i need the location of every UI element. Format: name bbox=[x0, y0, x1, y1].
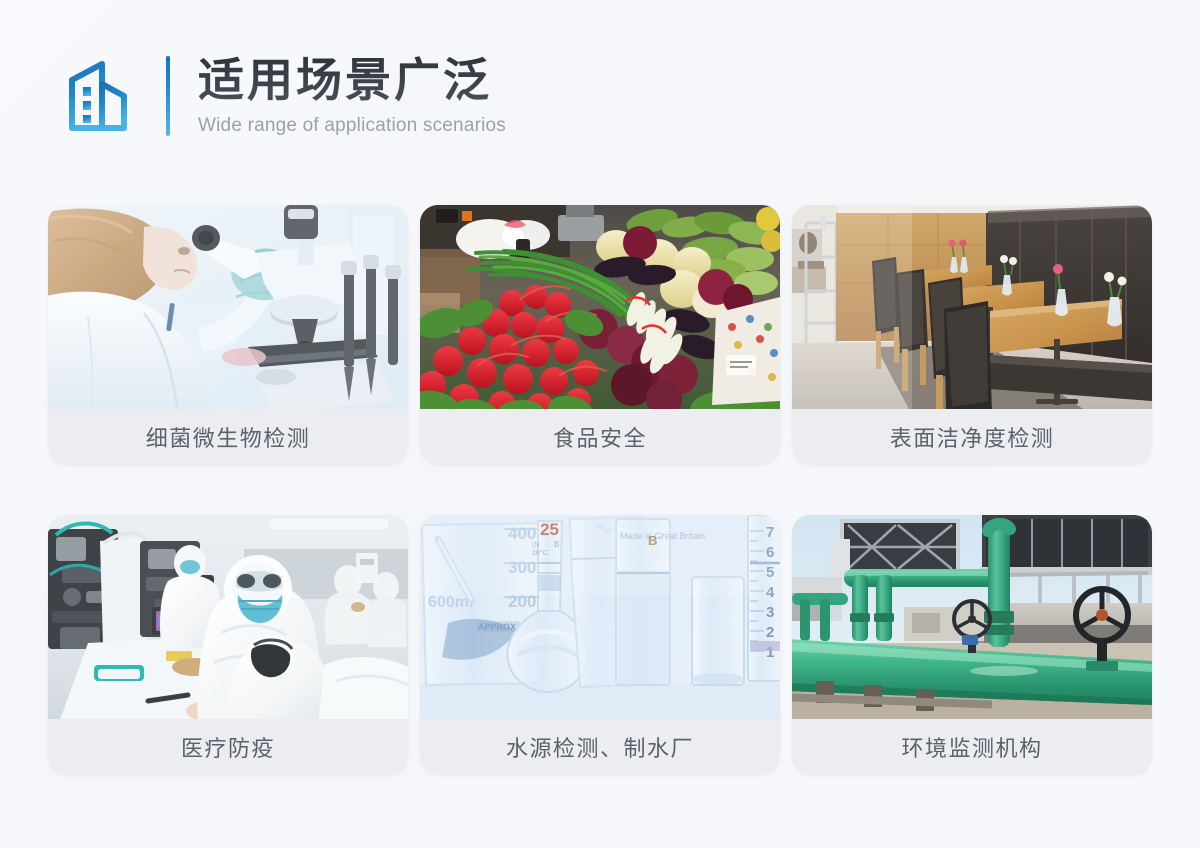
lab-glassware-photo: 400 300 200 600ml APPROX bbox=[420, 515, 780, 725]
restaurant-interior-photo bbox=[792, 205, 1152, 415]
scenario-card-grid: 细菌微生物检测 bbox=[48, 205, 1152, 775]
card-label: 环境监测机构 bbox=[792, 719, 1152, 775]
page-header: 适用场景广泛 Wide range of application scenari… bbox=[62, 48, 506, 144]
card-label-text: 环境监测机构 bbox=[901, 731, 1042, 763]
card-label: 表面洁净度检测 bbox=[792, 409, 1152, 465]
scenario-card[interactable]: 细菌微生物检测 bbox=[48, 205, 408, 465]
card-label-text: 细菌微生物检测 bbox=[146, 421, 311, 453]
scenario-card[interactable]: 400 300 200 600ml APPROX bbox=[420, 515, 780, 775]
scenario-card[interactable]: 表面洁净度检测 bbox=[792, 205, 1152, 465]
green-pipeline-photo bbox=[792, 515, 1152, 725]
card-label-text: 食品安全 bbox=[553, 421, 647, 453]
vegetable-market-photo bbox=[420, 205, 780, 415]
page-title: 适用场景广泛 bbox=[198, 55, 506, 107]
card-label: 水源检测、制水厂 bbox=[420, 719, 780, 775]
card-label: 细菌微生物检测 bbox=[48, 409, 408, 465]
card-label: 食品安全 bbox=[420, 409, 780, 465]
scenario-card[interactable]: 医疗防疫 bbox=[48, 515, 408, 775]
header-divider bbox=[166, 56, 170, 136]
scientist-microscope-photo bbox=[48, 205, 408, 415]
card-label: 医疗防疫 bbox=[48, 719, 408, 775]
cleanroom-workers-photo bbox=[48, 515, 408, 725]
card-label-text: 表面洁净度检测 bbox=[890, 421, 1055, 453]
card-label-text: 水源检测、制水厂 bbox=[506, 731, 694, 763]
page-subtitle: Wide range of application scenarios bbox=[198, 115, 506, 137]
card-label-text: 医疗防疫 bbox=[181, 731, 275, 763]
building-icon bbox=[62, 58, 134, 134]
scenario-card[interactable]: 环境监测机构 bbox=[792, 515, 1152, 775]
header-title-block: 适用场景广泛 Wide range of application scenari… bbox=[198, 55, 506, 138]
scenario-card[interactable]: 食品安全 bbox=[420, 205, 780, 465]
